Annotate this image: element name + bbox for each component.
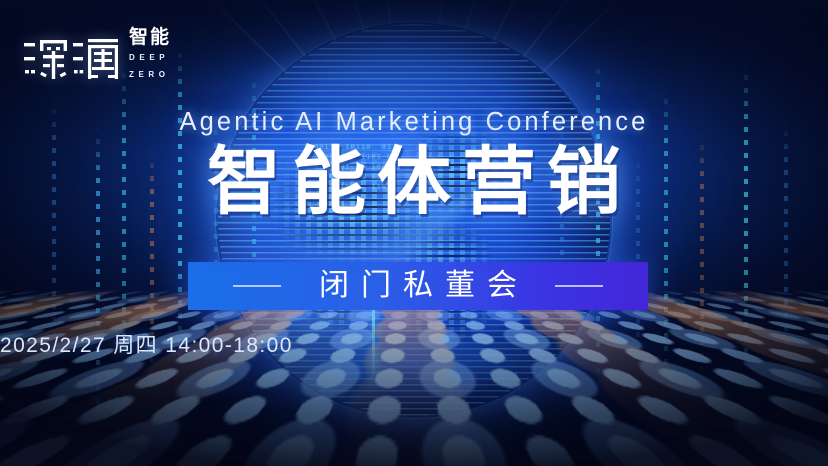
subtitle-text: 闭门私董会 (307, 271, 529, 301)
page-title: 智能体营销 (0, 141, 828, 224)
brand-name-cn: 智能 (129, 28, 171, 47)
conference-eyebrow: Agentic AI Marketing Conference (0, 108, 828, 137)
shenyan-logomark-icon (24, 37, 120, 83)
brand-logo[interactable]: 智能 DEEP ZERO (24, 28, 171, 83)
event-datetime: 2025/2/27 周四 14:00-18:00 (0, 329, 828, 359)
brand-name-en-line1: DEEP (129, 52, 171, 64)
conference-poster: 0011 10110 01 10010 1101 0 1 01101 0 100… (0, 0, 828, 466)
subtitle-banner: 闭门私董会 (188, 262, 648, 310)
banner-dash-right (555, 285, 603, 287)
brand-name-en-line2: ZERO (129, 69, 171, 81)
brand-logo-wordmark: 智能 DEEP ZERO (129, 28, 171, 83)
banner-dash-left (233, 285, 281, 287)
